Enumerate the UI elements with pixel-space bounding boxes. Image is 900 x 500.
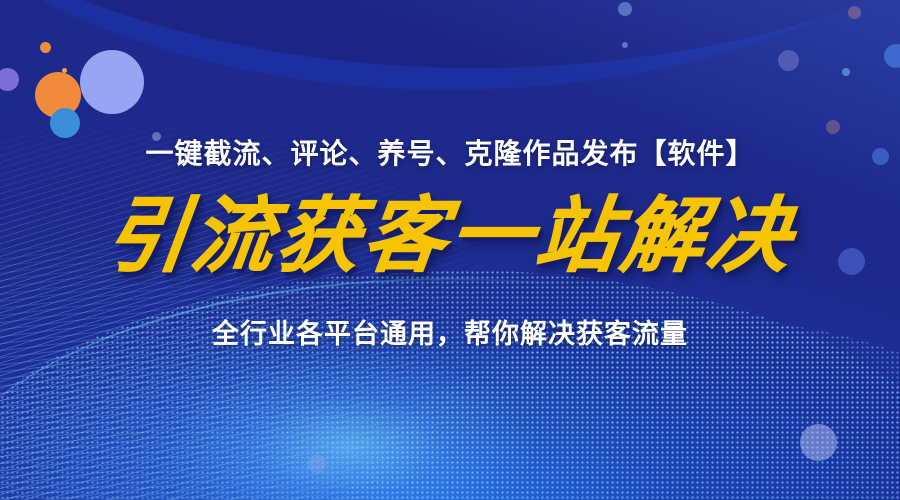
banner-subtitle: 全行业各平台通用，帮你解决获客流量: [212, 312, 688, 351]
banner-content: 一键截流、评论、养号、克隆作品发布【软件】 引流获客一站解决 全行业各平台通用，…: [0, 0, 900, 500]
banner-tagline: 一键截流、评论、养号、克隆作品发布【软件】: [145, 132, 754, 172]
promo-banner: 一键截流、评论、养号、克隆作品发布【软件】 引流获客一站解决 全行业各平台通用，…: [0, 0, 900, 500]
banner-headline: 引流获客一站解决: [101, 196, 799, 278]
